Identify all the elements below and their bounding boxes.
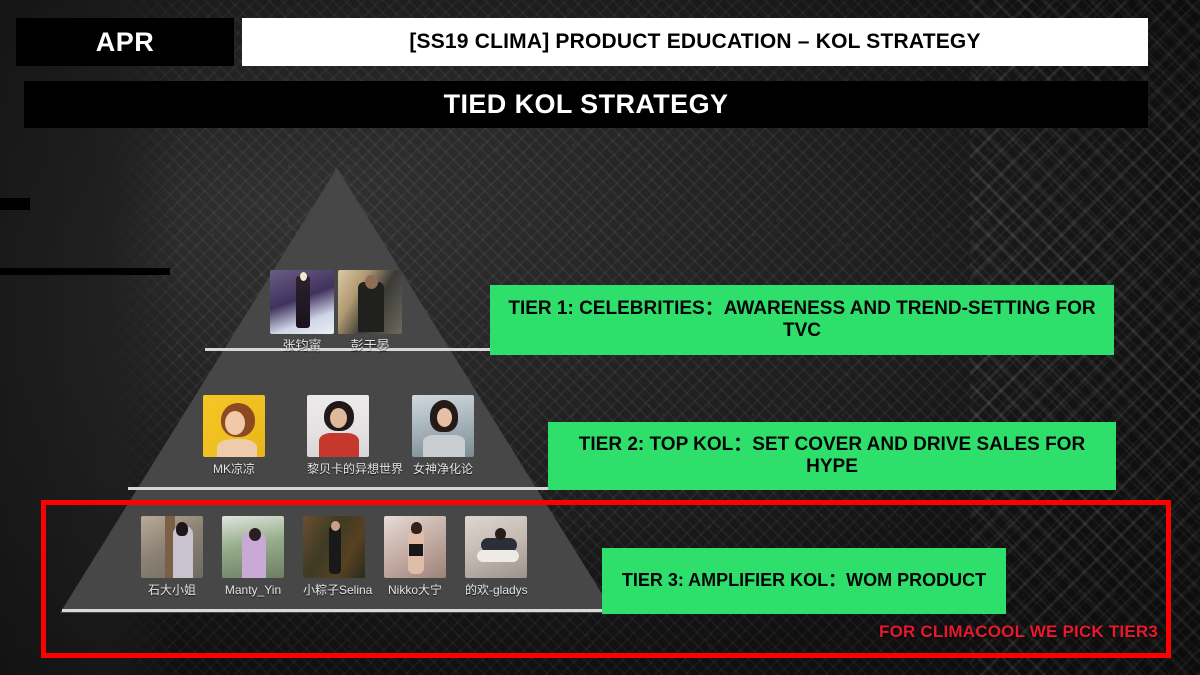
tier-2-banner: TIER 2: TOP KOL：SET COVER AND DRIVE SALE… [548,422,1116,490]
kol-photo [270,270,334,334]
kol-card[interactable]: MK凉凉 [203,395,265,476]
kol-name: 张钧甯 [270,339,334,353]
deck-title-bar: [SS19 CLIMA] PRODUCT EDUCATION – KOL STR… [242,18,1148,66]
kol-name: 彭于晏 [338,339,402,353]
kol-card[interactable]: 女神净化论 [412,395,474,476]
kol-photo [307,395,369,457]
callout-note: FOR CLIMACOOL WE PICK TIER3 [879,622,1158,642]
tier-1-banner: TIER 1: CELEBRITIES：AWARENESS AND TREND-… [490,285,1114,355]
kol-name: MK凉凉 [203,462,265,476]
kol-card[interactable]: 彭于晏 [338,270,402,353]
kol-photo [203,395,265,457]
kol-card[interactable]: 黎贝卡的异想世界 [307,395,403,476]
kol-photo [412,395,474,457]
slide-canvas: APR [SS19 CLIMA] PRODUCT EDUCATION – KOL… [0,0,1200,675]
kol-photo [338,270,402,334]
decorative-bar-top [0,198,30,210]
decorative-bar-bottom [0,268,170,275]
kol-name: 黎贝卡的异想世界 [307,462,403,476]
kol-name: 女神净化论 [412,462,474,476]
page-title: TIED KOL STRATEGY [24,81,1148,128]
kol-card[interactable]: 张钧甯 [270,270,334,353]
month-badge: APR [16,18,234,66]
